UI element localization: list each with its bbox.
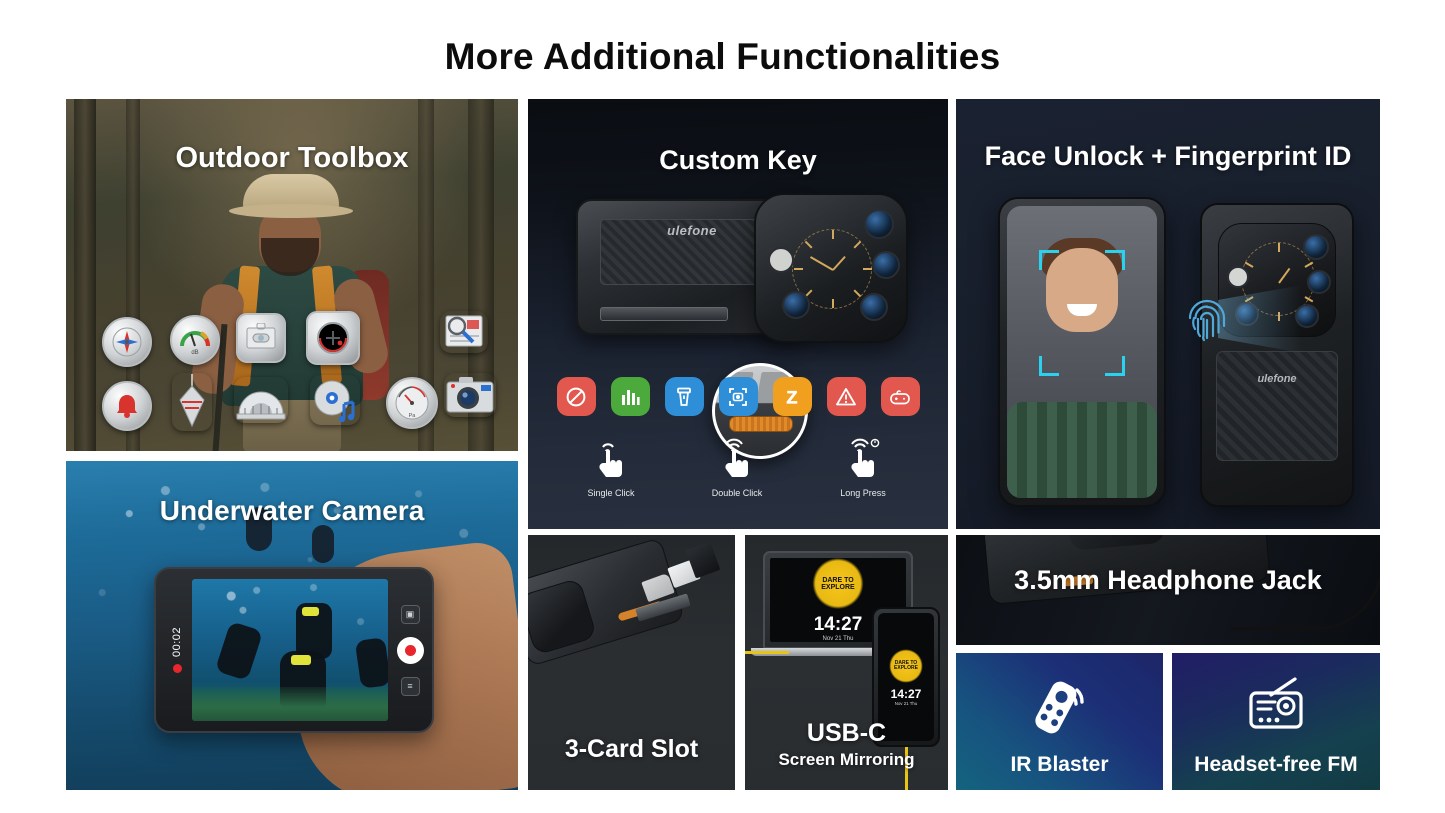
phone-date: Nov 21 Thu <box>895 701 918 706</box>
single-click-label: Single Click <box>568 488 654 498</box>
svg-text:dB: dB <box>191 350 198 356</box>
card-slot-phone <box>528 535 728 669</box>
dare-to-explore-logo-phone: DARE TO EXPLORE <box>889 649 923 683</box>
face-bracket-tr <box>1105 250 1125 270</box>
orange-custom-key <box>729 416 793 432</box>
svg-text:Pa: Pa <box>409 413 417 419</box>
panel-caption-card-slot: 3-Card Slot <box>528 735 735 764</box>
alarm-bell-icon[interactable] <box>102 381 152 431</box>
svg-text:Z: Z <box>787 388 797 407</box>
record-button[interactable] <box>397 637 424 664</box>
sos-warning-icon[interactable] <box>827 377 866 416</box>
record-dot-icon <box>173 664 182 673</box>
panel-subcaption-usb-c: Screen Mirroring <box>745 749 948 770</box>
face-bracket-br <box>1105 356 1125 376</box>
note-magnifier-icon[interactable] <box>440 311 488 353</box>
flashlight-icon[interactable] <box>665 377 704 416</box>
panel-underwater-camera: Underwater Camera 00:02 ▣ ≡ <box>66 461 518 790</box>
media-player-icon[interactable] <box>310 375 360 425</box>
menu-button[interactable]: ≡ <box>401 677 420 696</box>
panel-caption-ir-blaster: IR Blaster <box>956 753 1163 777</box>
front-phone <box>998 197 1166 507</box>
laptop-time: 14:27 <box>814 614 863 636</box>
scan-camera-icon[interactable] <box>719 377 758 416</box>
face-bracket-tl <box>1039 250 1059 270</box>
plumb-bob-icon[interactable] <box>172 373 212 431</box>
equalizer-icon[interactable] <box>611 377 650 416</box>
camera-icon[interactable] <box>444 373 496 417</box>
panel-custom-key: Custom Key ulefone <box>528 99 948 529</box>
camera-viewfinder <box>192 579 388 721</box>
marketing-page: More Additional Functionalities Outdoor … <box>0 0 1445 813</box>
gesture-row: Single Click Double Click Long Press <box>568 437 908 498</box>
panel-caption-outdoor-toolbox: Outdoor Toolbox <box>66 142 518 175</box>
underwater-phone: 00:02 ▣ ≡ <box>154 567 434 733</box>
custom-key-phone: ulefone <box>576 193 906 341</box>
shortcut-icons-row: Z <box>548 377 928 416</box>
laptop-date: Nov 21 Thu <box>823 636 854 642</box>
toolbox-icon-grid: dB Pa <box>84 311 502 436</box>
panel-usb-c: DARE TO EXPLORE 14:27 Nov 21 Thu DARE TO… <box>745 535 948 790</box>
panel-card-slot: 3-Card Slot <box>528 535 735 790</box>
usb-cable-left <box>745 651 789 654</box>
panel-caption-headphone-jack: 3.5mm Headphone Jack <box>956 565 1380 596</box>
game-controller-icon[interactable] <box>881 377 920 416</box>
phone-brand-label-back: ulefone <box>1202 373 1352 385</box>
page-title: More Additional Functionalities <box>0 36 1445 78</box>
panel-caption-fm-radio: Headset-free FM <box>1172 753 1380 777</box>
panel-fm-radio: Headset-free FM <box>1172 653 1380 790</box>
face-unlock-screen <box>1007 206 1157 498</box>
phone-time: 14:27 <box>891 687 922 701</box>
double-click-label: Double Click <box>694 488 780 498</box>
recording-indicator: 00:02 <box>164 569 190 731</box>
panel-outdoor-toolbox: Outdoor Toolbox dB <box>66 99 518 451</box>
magnifier-mirror-icon[interactable] <box>306 311 360 365</box>
bubble-level-icon[interactable] <box>236 313 286 363</box>
long-press-label: Long Press <box>820 488 906 498</box>
no-entry-icon[interactable] <box>557 377 596 416</box>
panel-face-unlock: Face Unlock + Fingerprint ID <box>956 99 1380 529</box>
long-press-gesture: Long Press <box>820 437 906 498</box>
photo-mode-button[interactable]: ▣ <box>401 605 420 624</box>
panel-caption-custom-key: Custom Key <box>528 145 948 176</box>
camera-controls: ▣ ≡ <box>394 569 426 731</box>
face-bracket-bl <box>1039 356 1059 376</box>
sound-meter-icon[interactable]: dB <box>170 315 220 365</box>
zello-icon[interactable]: Z <box>773 377 812 416</box>
single-click-gesture: Single Click <box>568 437 654 498</box>
panel-headphone-jack: 3.5mm Headphone Jack <box>956 535 1380 645</box>
panel-caption-usb-c: USB-C <box>745 720 948 746</box>
remote-control-icon <box>1025 675 1095 742</box>
compass-icon[interactable] <box>102 317 152 367</box>
barometer-icon[interactable]: Pa <box>386 377 438 429</box>
dare-to-explore-logo: DARE TO EXPLORE <box>812 558 864 609</box>
record-timer: 00:02 <box>171 627 183 657</box>
fingerprint-icon <box>1184 295 1230 356</box>
radio-icon <box>1241 675 1311 742</box>
panel-caption-face-unlock: Face Unlock + Fingerprint ID <box>956 141 1380 172</box>
protractor-icon[interactable] <box>234 377 288 423</box>
double-click-gesture: Double Click <box>694 437 780 498</box>
panel-ir-blaster: IR Blaster <box>956 653 1163 790</box>
panel-caption-underwater-camera: Underwater Camera <box>66 495 518 527</box>
